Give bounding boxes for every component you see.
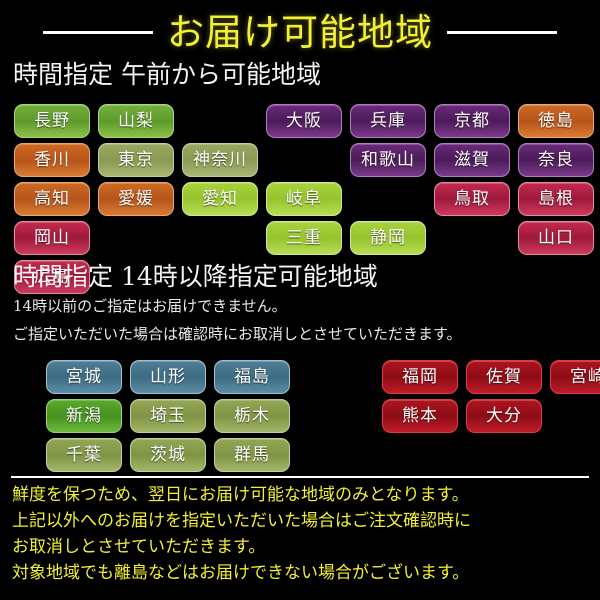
prefecture-tag: 熊本 [382, 399, 458, 433]
grid-spacer [298, 438, 374, 472]
footer-note-1: 鮮度を保つため、翌日にお届け可能な地域のみとなります。 [12, 487, 469, 504]
grid-spacer [98, 221, 174, 255]
prefecture-tag: 岐阜 [266, 182, 342, 216]
prefecture-tag: 福岡 [382, 360, 458, 394]
prefecture-tag: 香川 [14, 143, 90, 177]
footer-note-4: 対象地域でも離島などはお届けできない場合がございます。 [12, 565, 469, 582]
prefecture-tag: 山口 [518, 221, 594, 255]
prefecture-tag: 兵庫 [350, 104, 426, 138]
prefecture-tag: 高知 [14, 182, 90, 216]
prefecture-tag: 神奈川 [182, 143, 258, 177]
prefecture-tag: 鳥取 [434, 182, 510, 216]
prefecture-tag: 長野 [14, 104, 90, 138]
grid-spacer [466, 438, 542, 472]
delivery-area-banner: お届け可能地域 時間指定 午前から可能地域 長野山梨大阪兵庫京都徳島香川東京神奈… [0, 0, 600, 600]
prefecture-tag: 山形 [130, 360, 206, 394]
prefecture-tag: 宮崎 [550, 360, 600, 394]
footer-note-2: 上記以外へのお届けを指定いただいた場合はご注文確認時に [12, 513, 471, 530]
footer-divider [11, 476, 589, 478]
prefecture-tag: 大阪 [266, 104, 342, 138]
prefecture-tag: 栃木 [214, 399, 290, 433]
section-note-afternoon-2: ご指定いただいた場合は確認時にお取消しとさせていただきます。 [13, 327, 462, 342]
grid-spacer [382, 438, 458, 472]
prefecture-tag: 静岡 [350, 221, 426, 255]
grid-spacer [550, 399, 600, 433]
prefecture-tag: 愛知 [182, 182, 258, 216]
prefecture-tag: 徳島 [518, 104, 594, 138]
prefecture-tag: 大分 [466, 399, 542, 433]
prefecture-tag: 福島 [214, 360, 290, 394]
prefecture-tag: 和歌山 [350, 143, 426, 177]
grid-spacer [550, 438, 600, 472]
grid-spacer [298, 360, 374, 394]
prefecture-tag: 愛媛 [98, 182, 174, 216]
section-note-afternoon-1: 14時以前のご指定はお届けできません。 [13, 299, 287, 314]
title-rule-right [447, 31, 557, 34]
grid-spacer [182, 221, 258, 255]
prefecture-tag: 千葉 [46, 438, 122, 472]
prefecture-tag: 群馬 [214, 438, 290, 472]
prefecture-tag: 宮城 [46, 360, 122, 394]
prefecture-tag: 新潟 [46, 399, 122, 433]
title-rule-left [43, 31, 153, 34]
section-heading-morning: 時間指定 午前から可能地域 [13, 62, 321, 87]
prefecture-tag: 山梨 [98, 104, 174, 138]
prefecture-tag: 東京 [98, 143, 174, 177]
grid-spacer [182, 104, 258, 138]
prefecture-tag: 島根 [518, 182, 594, 216]
prefecture-tag: 奈良 [518, 143, 594, 177]
grid-spacer [266, 143, 342, 177]
prefecture-tag: 三重 [266, 221, 342, 255]
prefecture-tag: 岡山 [14, 221, 90, 255]
section-heading-afternoon: 時間指定 14時以降指定可能地域 [13, 264, 378, 289]
prefecture-grid-afternoon: 宮城山形福島福岡佐賀宮崎新潟埼玉栃木熊本大分千葉茨城群馬 [46, 360, 600, 472]
prefecture-tag: 茨城 [130, 438, 206, 472]
prefecture-tag: 埼玉 [130, 399, 206, 433]
prefecture-tag: 佐賀 [466, 360, 542, 394]
page-title: お届け可能地域 [167, 14, 433, 51]
footer-note-3: お取消しとさせていただきます。 [12, 539, 265, 556]
prefecture-tag: 滋賀 [434, 143, 510, 177]
grid-spacer [434, 221, 510, 255]
banner-title-row: お届け可能地域 [0, 6, 600, 58]
prefecture-tag: 京都 [434, 104, 510, 138]
grid-spacer [298, 399, 374, 433]
grid-spacer [350, 182, 426, 216]
